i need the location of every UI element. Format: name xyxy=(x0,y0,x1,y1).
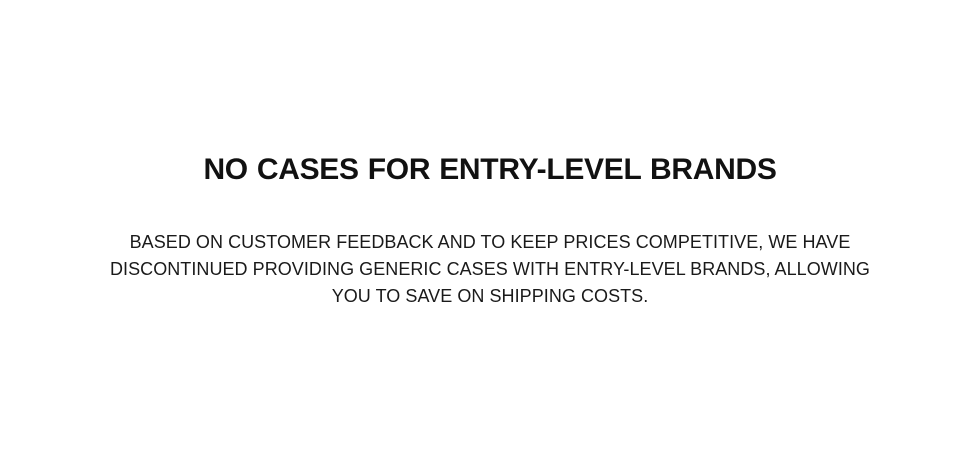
page-title: NO CASES FOR ENTRY-LEVEL BRANDS xyxy=(0,155,980,185)
notice-description-line: DISCONTINUED PROVIDING GENERIC CASES WIT… xyxy=(90,256,890,283)
notice-description-line: YOU TO SAVE ON SHIPPING COSTS. xyxy=(90,283,890,310)
notice-description: BASED ON CUSTOMER FEEDBACK AND TO KEEP P… xyxy=(90,229,890,310)
notice-description-line: BASED ON CUSTOMER FEEDBACK AND TO KEEP P… xyxy=(90,229,890,256)
notice-banner: NO CASES FOR ENTRY-LEVEL BRANDS BASED ON… xyxy=(0,0,980,450)
